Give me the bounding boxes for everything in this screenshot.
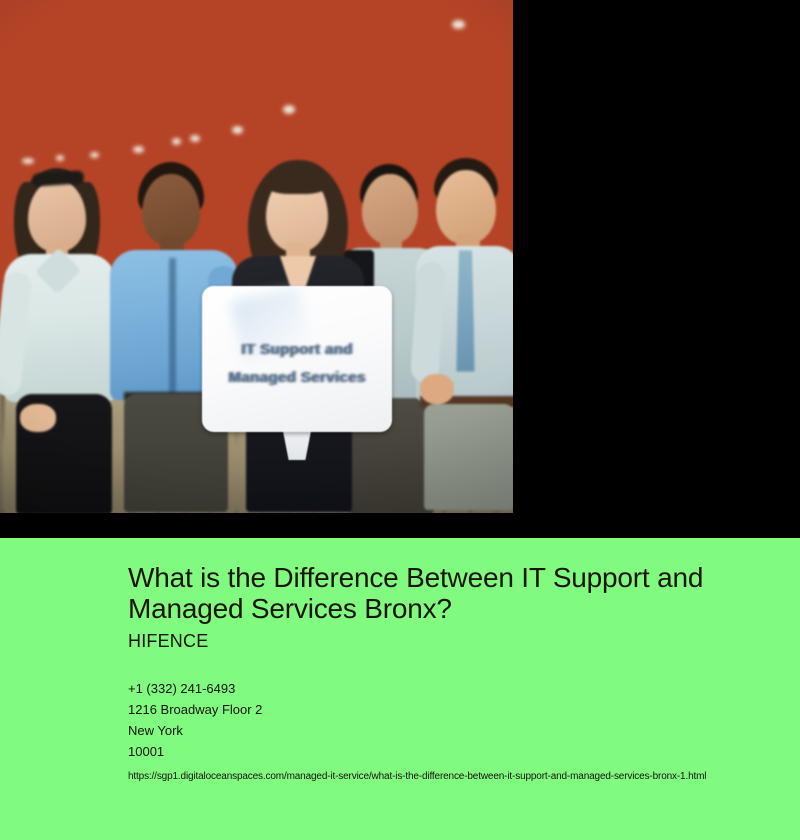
sign-text: IT Support and Managed Services [202, 336, 392, 392]
ceiling-light-dot [90, 152, 99, 158]
person-2-shirt-placket [169, 258, 176, 396]
ceiling-light-dot [190, 135, 200, 142]
hero-photo-stage: IT Support and Managed Services [0, 0, 513, 513]
contact-street: 1216 Broadway Floor 2 [128, 699, 782, 720]
ceiling-light-dot [22, 158, 34, 164]
person-5-hand [420, 374, 454, 404]
whiteboard-sign: IT Support and Managed Services [202, 286, 392, 461]
person-3-fringe [264, 168, 330, 194]
ceiling-light-dot [232, 126, 243, 134]
person-5 [416, 158, 513, 513]
person-1-hand [20, 404, 56, 432]
ceiling-light-dot [283, 105, 295, 114]
contact-phone[interactable]: +1 (332) 241-6493 [128, 678, 782, 699]
ceiling-light-dot [172, 138, 181, 145]
contact-postal-code: 10001 [128, 741, 782, 762]
ceiling-light-dot [133, 146, 144, 153]
caption-panel: What is the Difference Between IT Suppor… [0, 538, 800, 840]
person-5-necktie [456, 250, 475, 372]
caption-content: What is the Difference Between IT Suppor… [128, 562, 782, 784]
page-root: IT Support and Managed Services What is … [0, 0, 800, 840]
letterbox-bottom [0, 513, 800, 538]
contact-city: New York [128, 720, 782, 741]
person-5-trousers [424, 404, 513, 510]
source-url[interactable]: https://sgp1.digitaloceanspaces.com/mana… [128, 770, 782, 784]
letterbox-right [513, 0, 800, 513]
hero-photo: IT Support and Managed Services [0, 0, 513, 513]
ceiling-light-dot [56, 155, 64, 161]
ceiling-light-dot [452, 20, 465, 29]
person-5-head [436, 170, 496, 244]
page-title: What is the Difference Between IT Suppor… [128, 562, 728, 624]
person-4-head [362, 174, 418, 244]
brand-name: HIFENCE [128, 630, 782, 652]
contact-block: +1 (332) 241-6493 1216 Broadway Floor 2 … [128, 678, 782, 762]
